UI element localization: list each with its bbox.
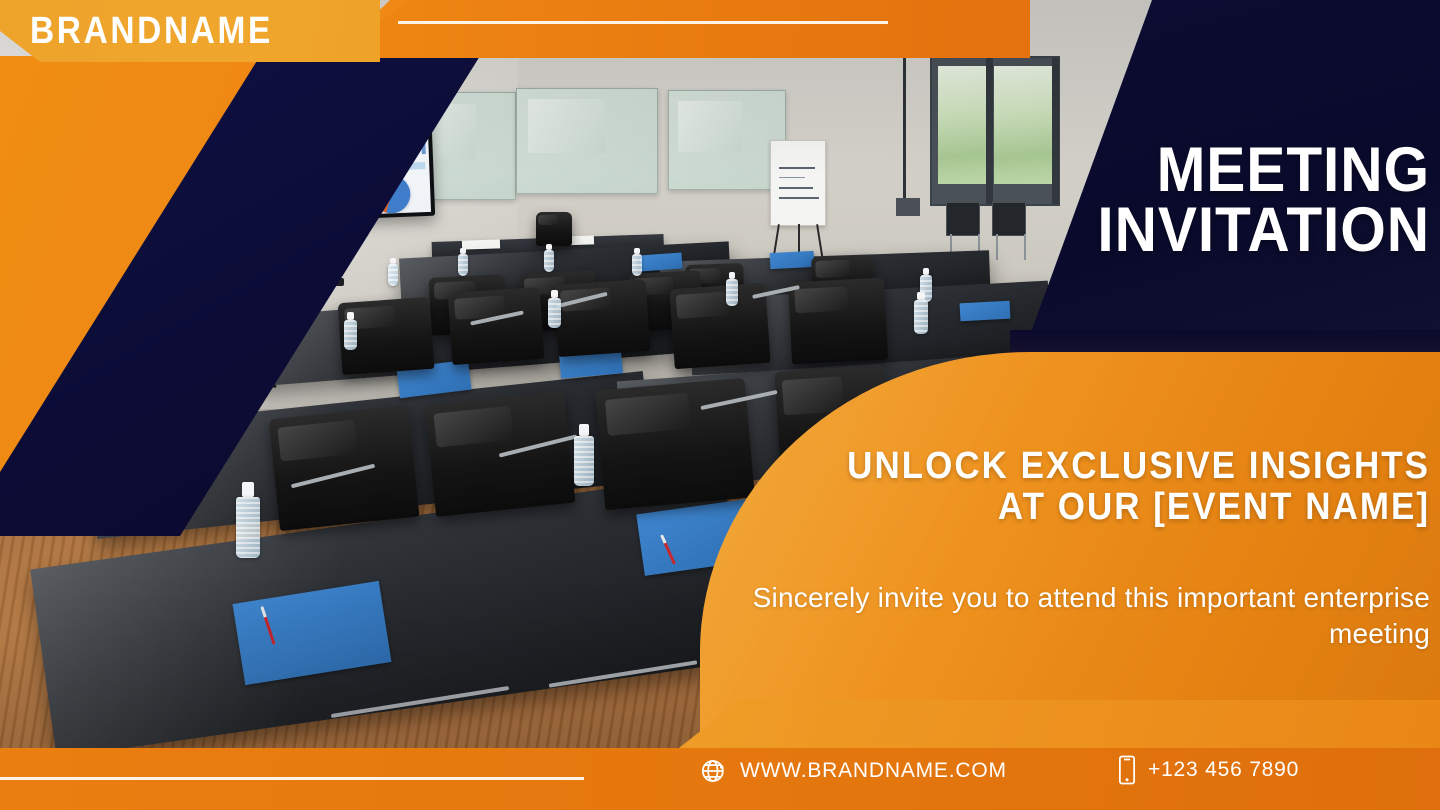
phone-label: +123 456 7890 <box>1148 758 1299 782</box>
meeting-invitation-poster: BRANDNAME MEETING INVITATION UNLOCK EXCL… <box>0 0 1440 810</box>
brand-tab: BRANDNAME <box>0 0 380 62</box>
website-contact[interactable]: WWW.BRANDNAME.COM <box>700 757 1007 785</box>
footer-divider-rule <box>0 777 584 780</box>
mobile-phone-icon <box>1118 755 1136 785</box>
top-divider-rule <box>398 21 888 24</box>
title-line-1: MEETING <box>1058 140 1430 200</box>
title-line-2: INVITATION <box>1058 200 1430 260</box>
page-title: MEETING INVITATION <box>1030 140 1430 261</box>
subheadline: UNLOCK EXCLUSIVE INSIGHTS AT OUR [EVENT … <box>760 446 1430 528</box>
subheadline-line-2: AT OUR [EVENT NAME] <box>814 487 1430 528</box>
globe-icon <box>700 757 728 785</box>
subheadline-line-1: UNLOCK EXCLUSIVE INSIGHTS <box>814 446 1430 487</box>
top-orange-bar-overlay <box>330 0 990 58</box>
brand-name: BRANDNAME <box>30 10 273 53</box>
phone-contact[interactable]: +123 456 7890 <box>1118 755 1299 785</box>
invitation-body-text: Sincerely invite you to attend this impo… <box>740 580 1430 652</box>
website-label: WWW.BRANDNAME.COM <box>740 759 1007 783</box>
